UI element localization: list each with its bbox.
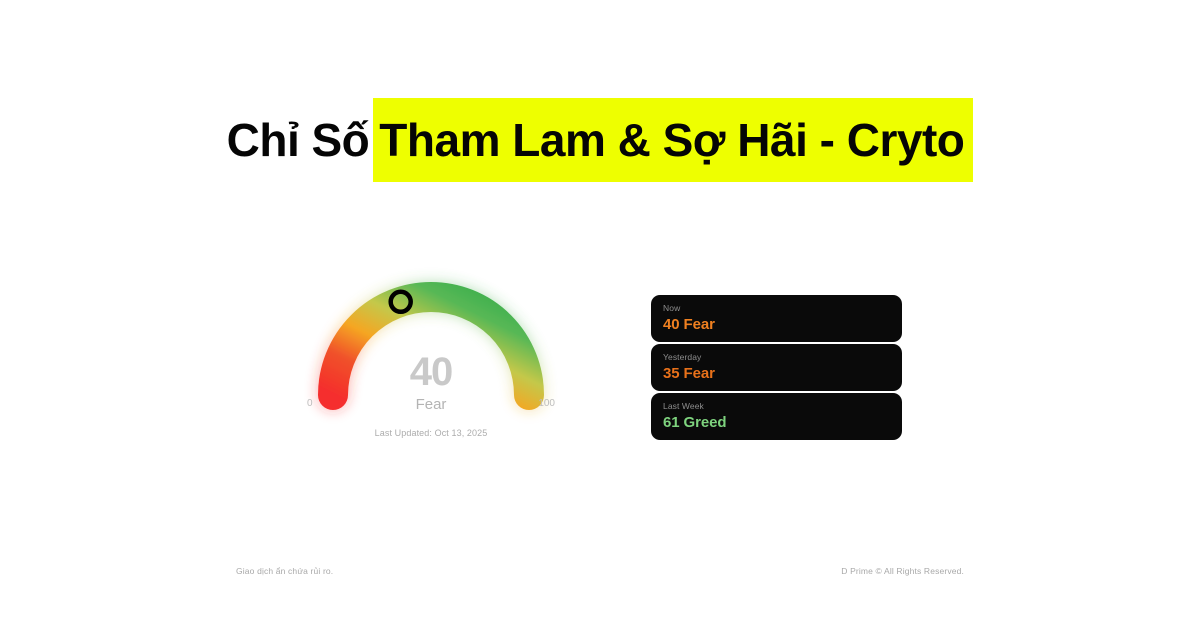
footer-copyright: D Prime © All Rights Reserved. <box>841 566 964 576</box>
gauge-max-label: 100 <box>538 398 555 409</box>
page-title: Chỉ SốTham Lam & Sợ Hãi - Cryto <box>0 98 1200 182</box>
card-last-week: Last Week 61 Greed <box>651 393 902 440</box>
card-yesterday: Yesterday 35 Fear <box>651 344 902 391</box>
card-yesterday-label: Yesterday <box>663 351 902 363</box>
title-text: Chỉ SốTham Lam & Sợ Hãi - Cryto <box>227 98 974 182</box>
gauge-min-label: 0 <box>307 398 313 409</box>
footer-disclaimer: Giao dịch ẩn chứa rủi ro. <box>236 566 333 576</box>
card-last-week-label: Last Week <box>663 400 902 412</box>
fear-greed-gauge: 40 Fear 0 100 Last Updated: Oct 13, 2025 <box>285 250 577 455</box>
gauge-value-label: Fear <box>285 396 577 413</box>
gauge-value-number: 40 <box>285 350 577 395</box>
card-yesterday-value: 35 Fear <box>663 363 902 384</box>
poster-canvas: Chỉ SốTham Lam & Sợ Hãi - Cryto <box>0 0 1200 628</box>
card-now-label: Now <box>663 302 902 314</box>
card-now: Now 40 Fear <box>651 295 902 342</box>
title-highlighted-part: Tham Lam & Sợ Hãi - Cryto <box>373 98 973 182</box>
history-cards: Now 40 Fear Yesterday 35 Fear Last Week … <box>651 295 902 440</box>
card-now-value: 40 Fear <box>663 314 902 335</box>
title-plain-part: Chỉ Số <box>227 98 374 182</box>
gauge-last-updated: Last Updated: Oct 13, 2025 <box>285 428 577 438</box>
card-last-week-value: 61 Greed <box>663 412 902 433</box>
